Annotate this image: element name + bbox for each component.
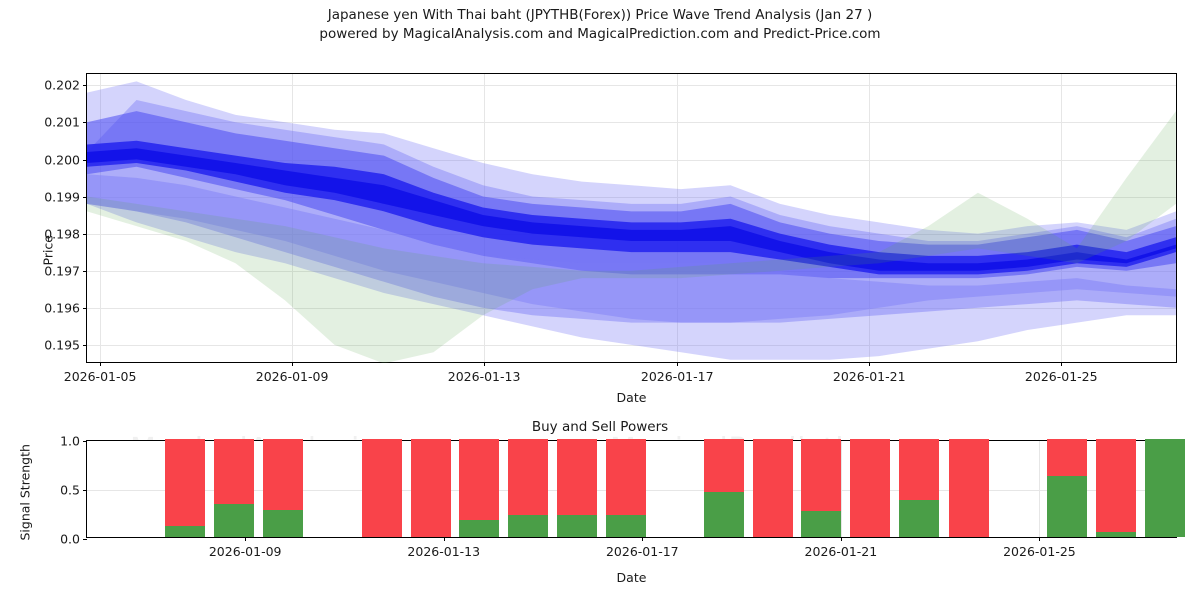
- sell-power-segment[interactable]: [850, 439, 890, 537]
- sell-power-segment[interactable]: [899, 439, 939, 500]
- sell-power-segment[interactable]: [214, 439, 254, 504]
- signal-bar[interactable]: [753, 439, 793, 537]
- sell-power-segment[interactable]: [263, 439, 303, 510]
- sell-power-segment[interactable]: [165, 439, 205, 526]
- signal-bar[interactable]: [362, 439, 402, 537]
- x-tick-label: 2026-01-13: [407, 544, 480, 559]
- sell-power-segment[interactable]: [753, 439, 793, 537]
- buy-power-segment[interactable]: [1145, 439, 1185, 537]
- x-tick-mark: [100, 362, 101, 366]
- price-chart-y-axis-title: Price: [41, 166, 56, 266]
- buy-power-segment[interactable]: [899, 500, 939, 537]
- signal-bar[interactable]: [508, 439, 548, 537]
- buy-power-segment[interactable]: [801, 511, 841, 537]
- sell-power-segment[interactable]: [362, 439, 402, 537]
- sell-power-segment[interactable]: [1096, 439, 1136, 532]
- signal-bar[interactable]: [606, 439, 646, 537]
- signal-bar[interactable]: [949, 439, 989, 537]
- sell-power-segment[interactable]: [1047, 439, 1087, 476]
- x-tick-label: 2026-01-21: [833, 369, 906, 384]
- signal-bar[interactable]: [1096, 439, 1136, 537]
- x-tick-label: 2026-01-17: [641, 369, 714, 384]
- x-tick-mark: [642, 537, 643, 541]
- signal-chart-title: Buy and Sell Powers: [0, 419, 1200, 435]
- y-tick-label: 0.201: [44, 115, 87, 130]
- signal-bars-group: [87, 441, 1176, 537]
- buy-power-segment[interactable]: [1096, 532, 1136, 537]
- x-tick-mark: [1061, 362, 1062, 366]
- signal-bar[interactable]: [165, 439, 205, 537]
- x-tick-mark: [292, 362, 293, 366]
- x-tick-label: 2026-01-09: [256, 369, 329, 384]
- signal-bar[interactable]: [459, 439, 499, 537]
- sell-power-segment[interactable]: [508, 439, 548, 515]
- y-tick-label: 0.196: [44, 301, 87, 316]
- price-wave-chart-axes: 0.1950.1960.1970.1980.1990.2000.2010.202…: [86, 73, 1177, 363]
- x-tick-label: 2026-01-17: [606, 544, 679, 559]
- y-tick-label: 0.0: [60, 532, 87, 547]
- price-wave-bands: [87, 74, 1176, 363]
- y-tick-label: 0.5: [60, 483, 87, 498]
- signal-bar[interactable]: [850, 439, 890, 537]
- buy-power-segment[interactable]: [459, 520, 499, 537]
- buy-power-segment[interactable]: [165, 526, 205, 537]
- signal-bar[interactable]: [411, 439, 451, 537]
- signal-strength-chart-axes: 0.00.51.0 2026-01-092026-01-132026-01-17…: [86, 440, 1177, 538]
- x-tick-label: 2026-01-25: [1003, 544, 1076, 559]
- sell-power-segment[interactable]: [801, 439, 841, 511]
- signal-chart-x-axis-title: Date: [86, 570, 1177, 585]
- x-tick-label: 2026-01-13: [448, 369, 521, 384]
- y-tick-label: 0.197: [44, 264, 87, 279]
- x-tick-mark: [869, 362, 870, 366]
- x-tick-label: 2026-01-09: [209, 544, 282, 559]
- signal-bar[interactable]: [263, 439, 303, 537]
- buy-power-segment[interactable]: [508, 515, 548, 537]
- buy-power-segment[interactable]: [557, 515, 597, 537]
- x-tick-label: 2026-01-05: [64, 369, 137, 384]
- figure-canvas: Japanese yen With Thai baht (JPYTHB(Fore…: [0, 0, 1200, 600]
- sell-power-segment[interactable]: [704, 439, 744, 492]
- figure-title-line-2: powered by MagicalAnalysis.com and Magic…: [0, 25, 1200, 44]
- signal-bar[interactable]: [1047, 439, 1087, 537]
- figure-title: Japanese yen With Thai baht (JPYTHB(Fore…: [0, 6, 1200, 44]
- x-tick-mark: [841, 537, 842, 541]
- buy-power-segment[interactable]: [214, 504, 254, 537]
- buy-power-segment[interactable]: [1047, 476, 1087, 537]
- x-tick-mark: [484, 362, 485, 366]
- signal-bar[interactable]: [704, 439, 744, 537]
- signal-bar[interactable]: [557, 439, 597, 537]
- signal-bar[interactable]: [801, 439, 841, 537]
- signal-bar[interactable]: [1145, 439, 1185, 537]
- x-tick-mark: [677, 362, 678, 366]
- sell-power-segment[interactable]: [949, 439, 989, 537]
- buy-power-segment[interactable]: [606, 515, 646, 537]
- x-tick-label: 2026-01-21: [805, 544, 878, 559]
- sell-power-segment[interactable]: [459, 439, 499, 520]
- price-chart-x-axis-title: Date: [86, 390, 1177, 405]
- signal-bar[interactable]: [899, 439, 939, 537]
- sell-power-segment[interactable]: [557, 439, 597, 515]
- y-tick-label: 0.202: [44, 78, 87, 93]
- x-tick-mark: [1039, 537, 1040, 541]
- signal-bar[interactable]: [214, 439, 254, 537]
- y-tick-label: 0.195: [44, 338, 87, 353]
- signal-chart-y-axis-title: Signal Strength: [18, 441, 33, 541]
- x-tick-mark: [444, 537, 445, 541]
- x-tick-mark: [245, 537, 246, 541]
- sell-power-segment[interactable]: [606, 439, 646, 515]
- figure-title-line-1: Japanese yen With Thai baht (JPYTHB(Fore…: [0, 6, 1200, 25]
- y-tick-label: 1.0: [60, 434, 87, 449]
- x-tick-label: 2026-01-25: [1025, 369, 1098, 384]
- sell-power-segment[interactable]: [411, 439, 451, 537]
- buy-power-segment[interactable]: [263, 510, 303, 537]
- buy-power-segment[interactable]: [704, 492, 744, 537]
